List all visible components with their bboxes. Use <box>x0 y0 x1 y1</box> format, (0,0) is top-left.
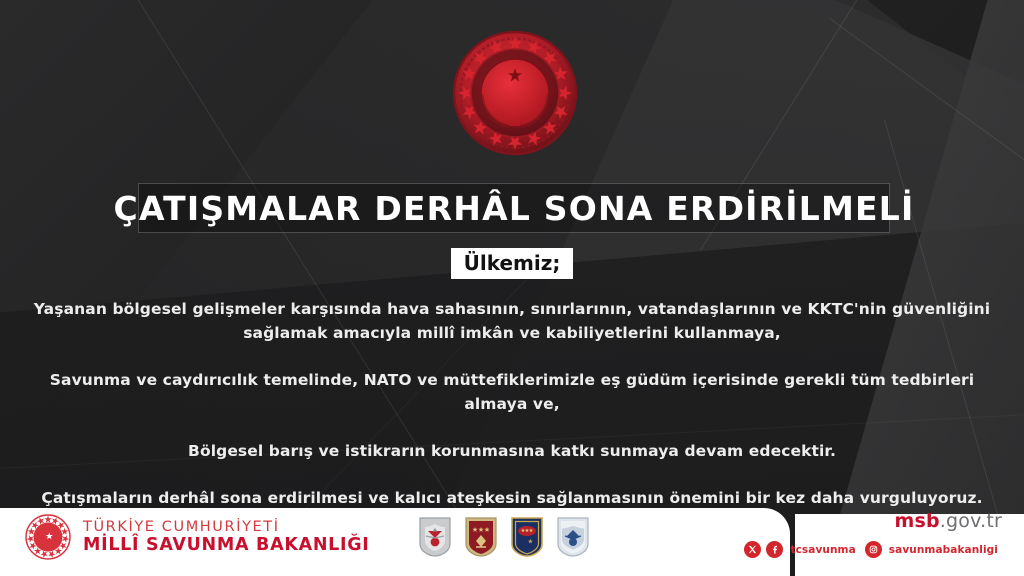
subtitle-chip: Ülkemiz; <box>451 248 574 279</box>
website-block: msb.gov.tr tcsavunma savunmabakan <box>744 512 1002 558</box>
social-links: tcsavunma savunmabakanligi <box>744 541 1002 558</box>
headline-band: ÇATIŞMALAR DERHÂL SONA ERDİRİLMELİ <box>138 183 890 233</box>
air-forces-emblem <box>556 516 590 558</box>
website-url-domain: .gov.tr <box>940 510 1002 532</box>
land-forces-emblem <box>464 516 498 558</box>
statement-paragraph: Yaşanan bölgesel gelişmeler karşısında h… <box>28 297 996 345</box>
social-handle-instagram[interactable]: savunmabakanligi <box>889 544 998 556</box>
instagram-icon[interactable] <box>865 541 882 558</box>
x-twitter-icon[interactable] <box>744 541 761 558</box>
poster: ÇATIŞMALAR DERHÂL SONA ERDİRİLMELİ Ülkem… <box>0 0 1024 576</box>
statement-body: Yaşanan bölgesel gelişmeler karşısında h… <box>28 297 996 510</box>
armed-forces-emblems <box>418 516 590 558</box>
footer: TÜRKİYE CUMHURİYETİ MİLLÎ SAVUNMA BAKANL… <box>0 504 1024 576</box>
subtitle-wrap: Ülkemiz; <box>0 248 1024 279</box>
website-url-brand: msb <box>894 510 939 532</box>
ministry-logo-lockup: TÜRKİYE CUMHURİYETİ MİLLÎ SAVUNMA BAKANL… <box>24 513 370 561</box>
social-handle-facebook[interactable]: tcsavunma <box>790 544 855 556</box>
general-staff-emblem <box>418 516 452 558</box>
ministry-seal-icon <box>452 30 578 156</box>
ministry-name: TÜRKİYE CUMHURİYETİ MİLLÎ SAVUNMA BAKANL… <box>83 520 370 555</box>
statement-paragraph: Savunma ve caydırıcılık temelinde, NATO … <box>28 368 996 416</box>
website-url[interactable]: msb.gov.tr <box>744 512 1002 531</box>
naval-forces-emblem <box>510 516 544 558</box>
facebook-icon[interactable] <box>766 541 783 558</box>
page-title: ÇATIŞMALAR DERHÂL SONA ERDİRİLMELİ <box>114 192 915 225</box>
ministry-line-1: TÜRKİYE CUMHURİYETİ <box>83 520 370 535</box>
statement-paragraph: Bölgesel barış ve istikrarın korunmasına… <box>28 439 996 463</box>
ministry-line-2: MİLLÎ SAVUNMA BAKANLIĞI <box>83 537 370 555</box>
msb-seal-icon <box>24 513 72 561</box>
